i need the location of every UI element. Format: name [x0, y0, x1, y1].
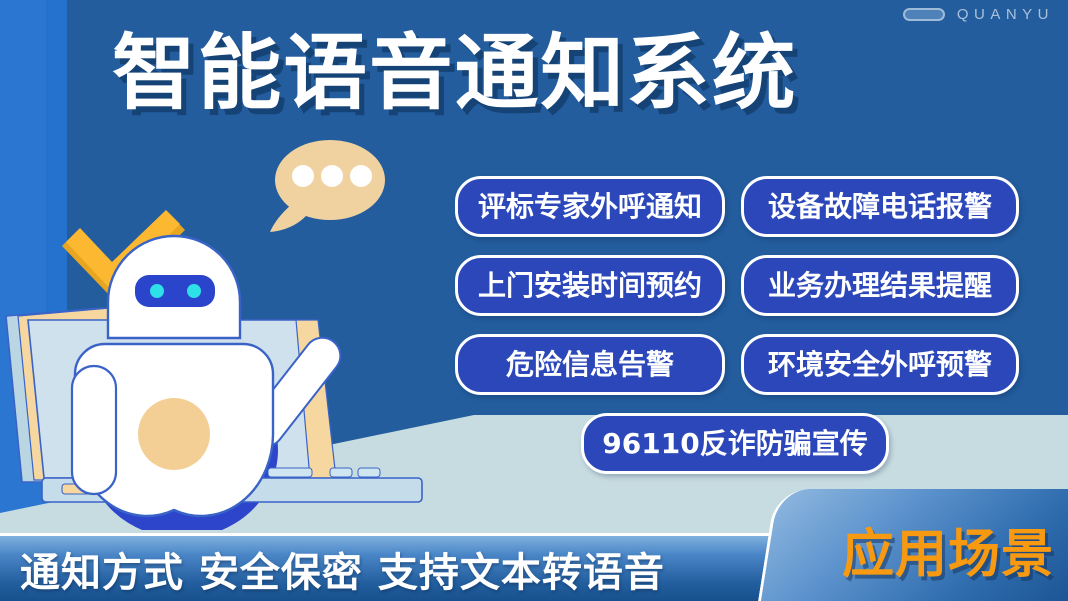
scenario-badge[interactable]: 评标专家外呼通知 — [455, 176, 725, 237]
capsule-icon — [903, 8, 945, 21]
brand-logo: QUANYU — [903, 6, 1054, 23]
scenario-badge[interactable]: 危险信息告警 — [455, 334, 725, 395]
hero-illustration — [0, 130, 470, 530]
scenario-badge[interactable]: 业务办理结果提醒 — [741, 255, 1019, 316]
scenario-badge[interactable]: 上门安装时间预约 — [455, 255, 725, 316]
scenario-badge[interactable]: 设备故障电话报警 — [741, 176, 1019, 237]
scene-label: 应用场景 — [842, 512, 1054, 587]
speech-bubble-icon — [270, 140, 385, 232]
footer-features-text: 通知方式 安全保密 支持文本转语音 — [20, 540, 665, 598]
poster-canvas: QUANYU 智能语音通知系统 — [0, 0, 1068, 601]
scenario-badge[interactable]: 环境安全外呼预警 — [741, 334, 1019, 395]
scenario-badge-list: 评标专家外呼通知 设备故障电话报警 上门安装时间预约 业务办理结果提醒 危险信息… — [455, 176, 1055, 474]
page-title: 智能语音通知系统 — [112, 33, 797, 115]
logo-text: QUANYU — [957, 6, 1054, 23]
scenario-badge[interactable]: 96110反诈防骗宣传 — [581, 413, 889, 474]
